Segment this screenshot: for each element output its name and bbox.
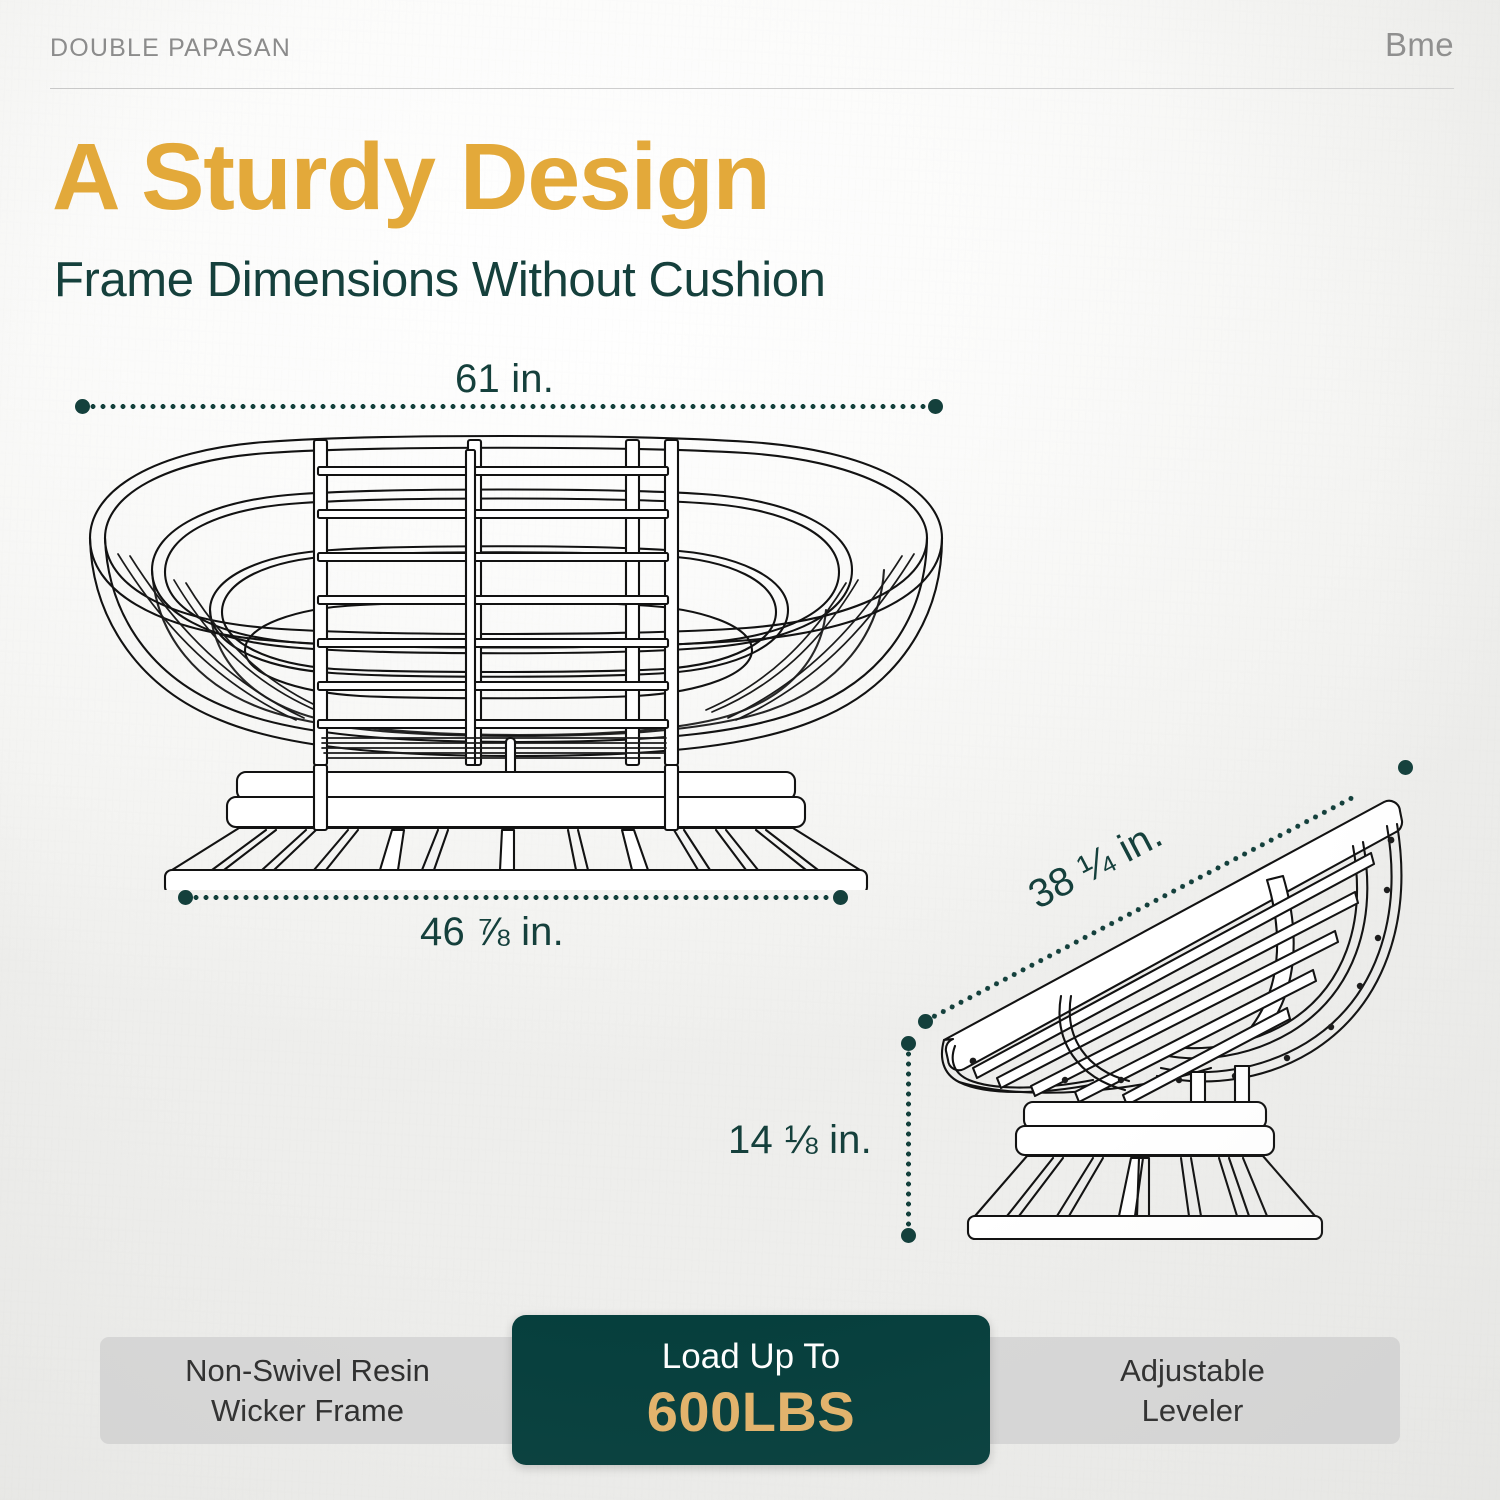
header-divider — [50, 88, 1454, 89]
dimension-endcap-right — [928, 399, 943, 414]
feature-right-line2: Leveler — [1142, 1391, 1244, 1430]
load-capacity-caption: Load Up To — [662, 1337, 840, 1377]
infographic-page: DOUBLE PAPASAN Bme A Sturdy Design Frame… — [0, 0, 1500, 1500]
header: DOUBLE PAPASAN Bme — [50, 26, 1454, 64]
feature-adjustable-leveler: Adjustable Leveler — [985, 1337, 1400, 1444]
dimension-base-width-label: 46 ⅞ in. — [420, 910, 564, 955]
dimension-line-vertical — [906, 1049, 911, 1230]
feature-non-swivel-frame: Non-Swivel Resin Wicker Frame — [100, 1337, 515, 1444]
feature-left-line1: Non-Swivel Resin — [185, 1351, 430, 1390]
side-view-illustration — [935, 780, 1425, 1250]
dimension-seat-height-label: 14 ⅛ in. — [728, 1118, 872, 1163]
brand-logo: Bme — [1385, 26, 1454, 64]
feature-left-line2: Wicker Frame — [211, 1391, 404, 1430]
dimension-width-top-label: 61 in. — [455, 357, 554, 402]
load-capacity-card: Load Up To 600LBS — [512, 1315, 990, 1465]
dimension-endcap-right — [833, 890, 848, 905]
dimension-line-horizontal — [191, 895, 841, 900]
dimension-endcap-bottom — [901, 1228, 916, 1243]
page-title: A Sturdy Design — [52, 128, 769, 228]
page-subtitle: Frame Dimensions Without Cushion — [54, 252, 826, 308]
dimension-line-horizontal — [88, 404, 930, 409]
dimension-endcap-upper-right — [1398, 760, 1413, 775]
feature-right-line1: Adjustable — [1120, 1351, 1265, 1390]
front-view-illustration — [70, 420, 970, 890]
product-eyebrow: DOUBLE PAPASAN — [50, 34, 291, 63]
load-capacity-value: 600LBS — [647, 1379, 855, 1444]
